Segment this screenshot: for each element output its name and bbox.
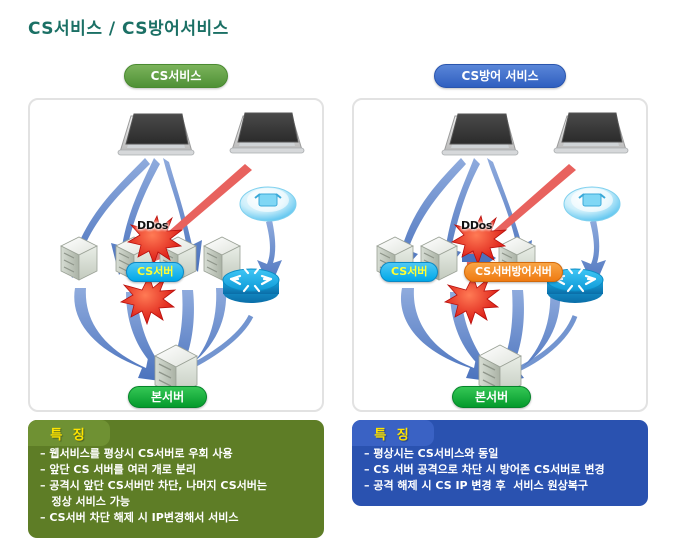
cs-service-header-pill: CS서비스 (124, 64, 229, 88)
list-item: – 공격시 앞단 CS서버만 차단, 나머지 CS서버는 (40, 478, 312, 494)
list-item: 정상 서비스 가능 (40, 494, 312, 510)
list-item: – 공격 해제 시 CS IP 변경 후 서비스 원상복구 (364, 478, 636, 494)
laptop-icon-1 (442, 114, 518, 155)
cs-defense-info-tab-label: 특 징 (352, 424, 434, 443)
router-icon (223, 268, 279, 303)
panel-cs-service: CS서비스 (28, 64, 324, 538)
cs-server-label: CS서버 (126, 262, 184, 282)
laptop-icon-2 (554, 113, 628, 153)
list-item: – 웹서비스를 평상시 CS서버로 우회 사용 (40, 446, 312, 462)
defense-server-label: CS서버방어서버 (464, 262, 563, 282)
cs-service-feature-list: – 웹서비스를 평상시 CS서버로 우회 사용 – 앞단 CS 서버를 여러 개… (40, 446, 312, 526)
laptop-icon-1 (118, 114, 194, 155)
main-server-label: 본서버 (128, 386, 207, 408)
cs-service-diagram: DDos CS서버 본서버 (28, 98, 324, 412)
page-title: CS서비스 / CS방어서비스 (28, 14, 229, 39)
list-item: – CS 서버 공격으로 차단 시 방어존 CS서버로 변경 (364, 462, 636, 478)
cloud-icon (564, 187, 620, 221)
cs-defense-header-pill: CS방어 서비스 (434, 64, 565, 88)
cs-server-label: CS서버 (380, 262, 438, 282)
ddos-label: DDos (137, 219, 168, 232)
cs-defense-diagram-svg (354, 100, 646, 406)
cs-defense-header: CS방어 서비스 (352, 64, 648, 88)
list-item: – 앞단 CS 서버를 여러 개로 분리 (40, 462, 312, 478)
cs-defense-feature-list: – 평상시는 CS서비스와 동일 – CS 서버 공격으로 차단 시 방어존 C… (364, 446, 636, 494)
cloud-icon (240, 187, 296, 221)
cs-service-header: CS서비스 (28, 64, 324, 88)
list-item: – 평상시는 CS서비스와 동일 (364, 446, 636, 462)
cs-defense-info-box: 특 징 – 평상시는 CS서비스와 동일 – CS 서버 공격으로 차단 시 방… (352, 420, 648, 506)
cs-service-info-box: 특 징 – 웹서비스를 평상시 CS서버로 우회 사용 – 앞단 CS 서버를 … (28, 420, 324, 538)
panel-cs-defense-service: CS방어 서비스 (352, 64, 648, 506)
cs-service-diagram-svg (30, 100, 322, 406)
laptop-icon-2 (230, 113, 304, 153)
list-item: – CS서버 차단 해제 시 IP변경해서 서비스 (40, 510, 312, 526)
cs-service-info-tab-label: 특 징 (28, 424, 110, 443)
ddos-label: DDos (461, 219, 492, 232)
main-server-label: 본서버 (452, 386, 531, 408)
cs-defense-diagram: DDos CS서버 CS서버방어서버 본서버 (352, 98, 648, 412)
server-rack-icon-1 (61, 237, 97, 280)
